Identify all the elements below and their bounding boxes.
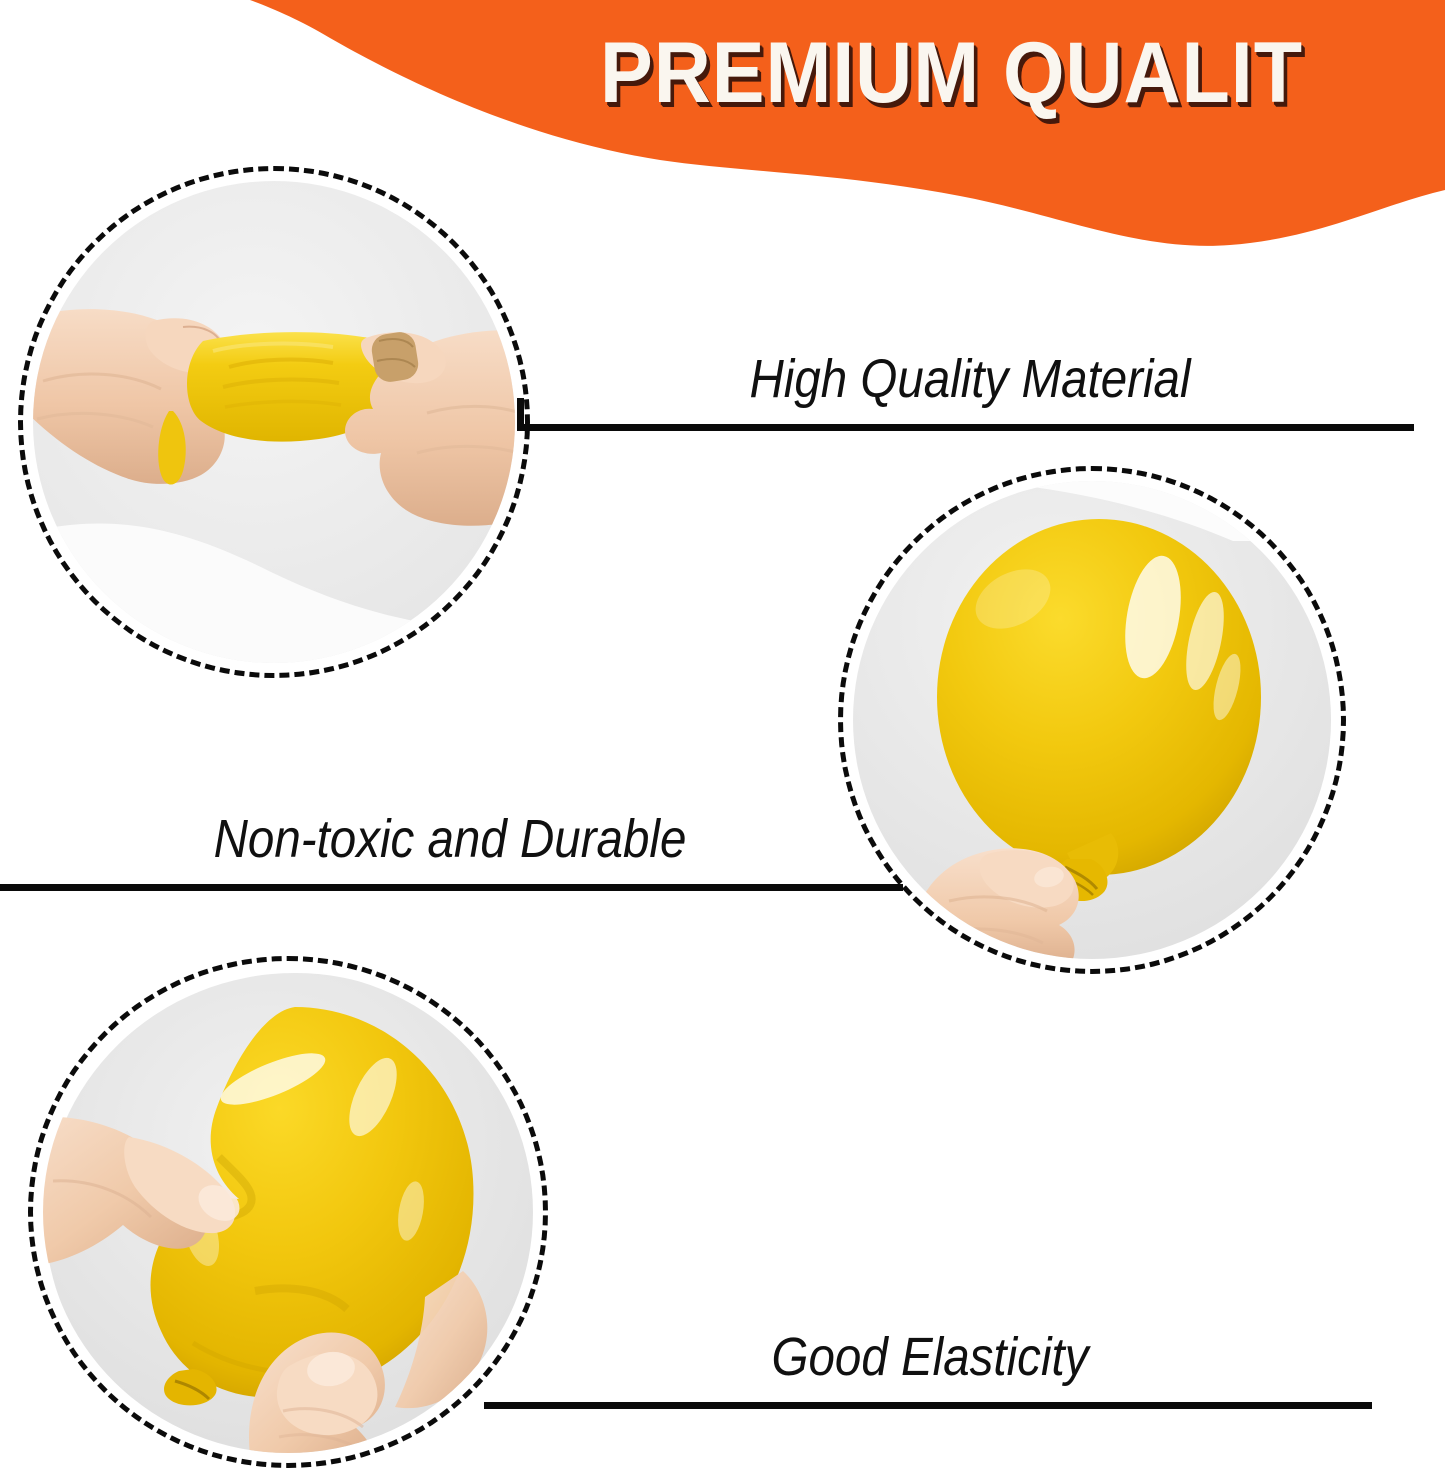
photo-clip-3 — [43, 971, 533, 1453]
photo-squeezing-balloon — [43, 971, 533, 1453]
feature-photo-good-elasticity — [28, 956, 548, 1468]
feature-label-good-elasticity: Good Elasticity — [543, 1330, 1317, 1384]
photo-clip-2 — [853, 481, 1331, 959]
feature-photo-non-toxic-and-durable — [838, 466, 1346, 974]
photo-clip-1 — [33, 181, 515, 663]
connector-line-2 — [0, 884, 903, 891]
page-title: PREMIUM QUALIT — [600, 28, 1391, 118]
feature-label-non-toxic-and-durable: Non-toxic and Durable — [54, 812, 846, 866]
feature-label-high-quality-material: High Quality Material — [583, 352, 1357, 406]
photo-stretching-balloon — [33, 181, 515, 663]
connector-line-1 — [517, 424, 1414, 431]
connector-line-3 — [484, 1402, 1372, 1409]
photo-inflated-balloon — [853, 481, 1331, 959]
feature-photo-high-quality-material — [18, 166, 530, 678]
infographic-page: PREMIUM QUALIT — [0, 0, 1445, 1474]
